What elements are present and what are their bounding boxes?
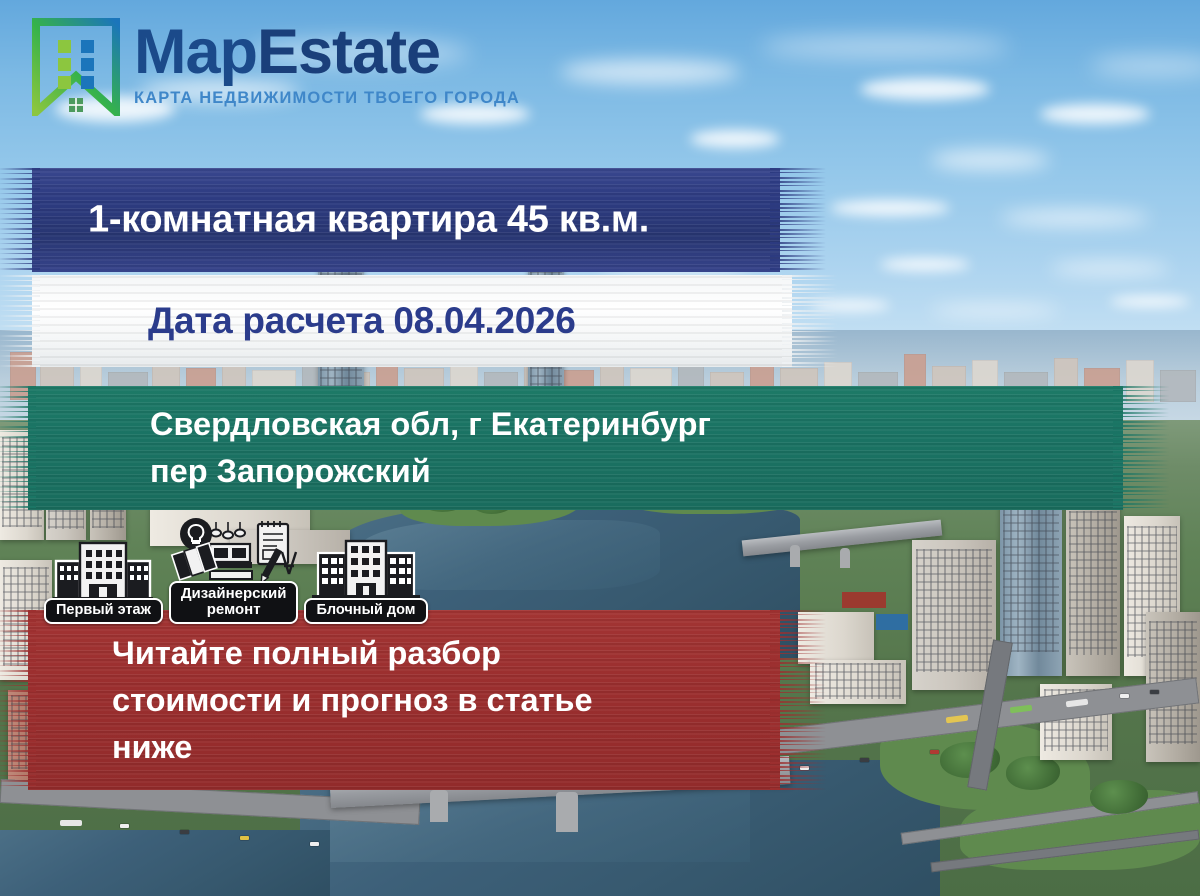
cta-banner: Читайте полный разборстоимости и прогноз…: [28, 610, 780, 790]
calculation-date: Дата расчета 08.04.2026: [148, 300, 576, 342]
badge-label: Дизайнерский ремонт: [169, 581, 299, 624]
property-title: 1-комнатная квартира 45 кв.м.: [88, 199, 649, 242]
brand-wordmark: MapEstate КАРТА НЕДВИЖИМОСТИ ТВОЕГО ГОРО…: [134, 22, 520, 108]
cta-text: Читайте полный разборстоимости и прогноз…: [112, 630, 593, 770]
badge-label: Блочный дом: [304, 598, 427, 625]
location-line-1: Свердловская обл, г Екатеринбург: [150, 406, 711, 442]
poster-canvas: MapEstate КАРТА НЕДВИЖИМОСТИ ТВОЕГО ГОРО…: [0, 0, 1200, 896]
property-banner: 1-комнатная квартира 45 кв.м.: [32, 168, 780, 272]
location-banner: Свердловская обл, г Екатеринбургпер Запо…: [28, 386, 1123, 510]
feature-badges: Первый этаж: [44, 516, 428, 624]
badge-first-floor[interactable]: Первый этаж: [44, 539, 163, 625]
badge-block-house[interactable]: Блочный дом: [304, 535, 427, 625]
cta-line-1: Читайте полный разбор: [112, 635, 501, 671]
brand-logo[interactable]: MapEstate КАРТА НЕДВИЖИМОСТИ ТВОЕГО ГОРО…: [32, 18, 520, 116]
brand-tagline: КАРТА НЕДВИЖИМОСТИ ТВОЕГО ГОРОДА: [134, 89, 520, 108]
building-facade-icon: [53, 539, 153, 605]
apartment-block-icon: [312, 535, 420, 605]
brand-name: MapEstate: [134, 22, 520, 84]
location-text: Свердловская обл, г Екатеринбургпер Запо…: [150, 401, 711, 495]
bookmark-building-icon: [32, 18, 120, 116]
cta-line-3: ниже: [112, 728, 192, 764]
badge-label: Первый этаж: [44, 598, 163, 625]
date-banner: Дата расчета 08.04.2026: [32, 275, 792, 367]
cta-line-2: стоимости и прогноз в статье: [112, 682, 593, 718]
location-line-2: пер Запорожский: [150, 453, 431, 489]
badge-designer-renovation[interactable]: Дизайнерский ремонт: [169, 516, 299, 624]
interior-design-icon: [170, 516, 298, 588]
